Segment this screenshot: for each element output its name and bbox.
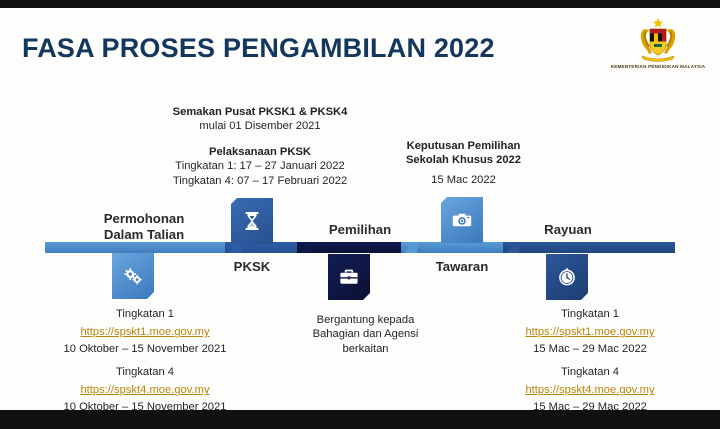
details-permohonan-t4-url[interactable]: https://spskt4.moe.gov.my bbox=[80, 383, 209, 397]
milestone-box-pksk[interactable] bbox=[231, 198, 273, 244]
camera-icon bbox=[451, 209, 473, 231]
milestone-box-pemilihan[interactable] bbox=[328, 254, 370, 300]
stage-label-pksk: PKSK bbox=[194, 259, 310, 275]
hourglass-icon bbox=[241, 210, 263, 232]
stage-label-rayuan: Rayuan bbox=[510, 222, 626, 238]
details-pemilihan-line2: Bahagian dan Agensi bbox=[288, 327, 443, 341]
details-pemilihan: Bergantung kepada Bahagian dan Agensi be… bbox=[288, 313, 443, 356]
details-rayuan-t4-url[interactable]: https://spskt4.moe.gov.my bbox=[525, 383, 654, 397]
stage-label-pksk-line1: PKSK bbox=[194, 259, 310, 275]
slide-canvas: FASA PROSES PENGAMBILAN 2022 KEMENTERIAN… bbox=[0, 8, 720, 410]
details-rayuan-t4-heading: Tingkatan 4 bbox=[490, 365, 690, 379]
stage-label-permohonan-line1: Permohonan bbox=[78, 211, 210, 227]
details-pemilihan-line3: berkaitan bbox=[288, 342, 443, 356]
clock-icon bbox=[556, 266, 578, 288]
gears-icon bbox=[122, 265, 144, 287]
briefcase-icon bbox=[338, 266, 360, 288]
stage-label-pemilihan: Pemilihan bbox=[302, 222, 418, 238]
details-rayuan-t1-dates: 15 Mac – 29 Mac 2022 bbox=[490, 342, 690, 356]
details-permohonan-t4-heading: Tingkatan 4 bbox=[45, 365, 245, 379]
details-permohonan: Tingkatan 1 https://spskt1.moe.gov.my 10… bbox=[45, 307, 245, 410]
details-permohonan-t1-dates: 10 Oktober – 15 November 2021 bbox=[45, 342, 245, 356]
details-permohonan-t4-dates: 10 Oktober – 15 November 2021 bbox=[45, 400, 245, 410]
stage-label-tawaran-line1: Tawaran bbox=[404, 259, 520, 275]
milestone-box-tawaran[interactable] bbox=[441, 197, 483, 243]
timeline-segment-permohonan bbox=[45, 242, 235, 253]
stage-label-tawaran: Tawaran bbox=[404, 259, 520, 275]
frame-top-bar bbox=[0, 0, 720, 8]
details-permohonan-t1-heading: Tingkatan 1 bbox=[45, 307, 245, 321]
stage-label-pemilihan-line1: Pemilihan bbox=[302, 222, 418, 238]
timeline-segment-rayuan bbox=[503, 242, 675, 253]
stage-label-rayuan-line1: Rayuan bbox=[510, 222, 626, 238]
details-rayuan: Tingkatan 1 https://spskt1.moe.gov.my 15… bbox=[490, 307, 690, 410]
timeline-segment-pemilihan bbox=[297, 242, 411, 253]
milestone-box-rayuan[interactable] bbox=[546, 254, 588, 300]
stage-label-permohonan-line2: Dalam Talian bbox=[78, 227, 210, 243]
details-pemilihan-line1: Bergantung kepada bbox=[288, 313, 443, 327]
milestone-box-permohonan[interactable] bbox=[112, 253, 154, 299]
timeline-segment-tawaran bbox=[401, 242, 513, 253]
details-rayuan-t4-dates: 15 Mac – 29 Mac 2022 bbox=[490, 400, 690, 410]
frame-bottom-bar bbox=[0, 410, 720, 429]
details-permohonan-t1-url[interactable]: https://spskt1.moe.gov.my bbox=[80, 325, 209, 339]
details-rayuan-t1-url[interactable]: https://spskt1.moe.gov.my bbox=[525, 325, 654, 339]
details-rayuan-t1-heading: Tingkatan 1 bbox=[490, 307, 690, 321]
stage-label-permohonan: Permohonan Dalam Talian bbox=[78, 211, 210, 243]
